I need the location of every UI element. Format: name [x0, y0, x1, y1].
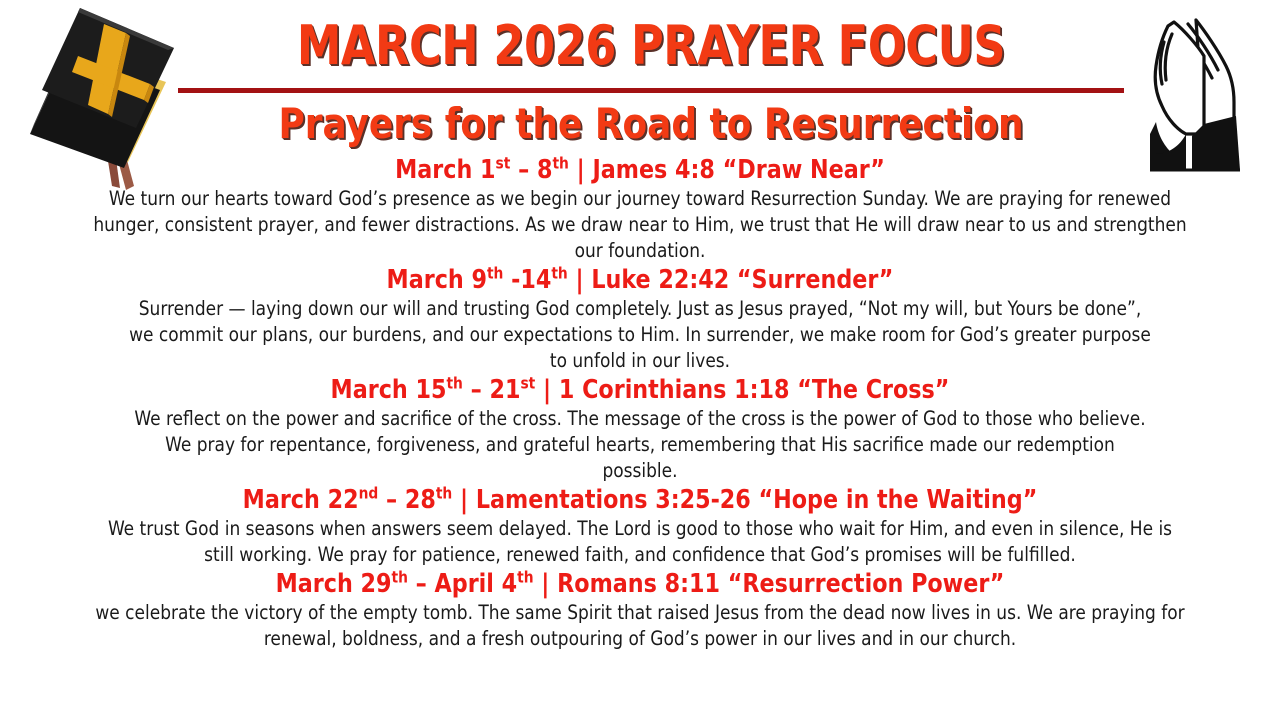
prayer-section: March 22nd – 28th | Lamentations 3:25-26…: [40, 484, 1240, 568]
heading-ordinal-1: th: [446, 374, 462, 393]
heading-ordinal-2: th: [551, 264, 567, 283]
heading-reference: | Luke 22:42 “Surrender”: [568, 265, 894, 295]
section-heading: March 15th – 21st | 1 Corinthians 1:18 “…: [58, 374, 1222, 406]
heading-reference: | Lamentations 3:25-26 “Hope in the Wait…: [452, 485, 1037, 515]
section-heading: March 22nd – 28th | Lamentations 3:25-26…: [58, 484, 1222, 516]
heading-date-mid: -14: [503, 265, 551, 295]
section-body: We reflect on the power and sacrifice of…: [58, 406, 1222, 484]
praying-hands-icon: [1126, 4, 1258, 176]
prayer-section: March 1st – 8th | James 4:8 “Draw Near” …: [40, 154, 1240, 264]
section-body: Surrender — laying down our will and tru…: [58, 296, 1222, 374]
prayer-section: March 9th -14th | Luke 22:42 “Surrender”…: [40, 264, 1240, 374]
heading-ordinal-1: st: [496, 154, 511, 173]
heading-date-prefix: March 9: [387, 265, 487, 295]
prayer-section: March 29th – April 4th | Romans 8:11 “Re…: [40, 568, 1240, 652]
heading-reference: | Romans 8:11 “Resurrection Power”: [534, 569, 1005, 599]
section-heading: March 1st – 8th | James 4:8 “Draw Near”: [58, 154, 1222, 186]
heading-date-prefix: March 22: [243, 485, 359, 515]
section-body: We trust God in seasons when answers see…: [58, 516, 1222, 568]
heading-date-mid: – 8: [510, 155, 552, 185]
heading-ordinal-2: th: [552, 154, 568, 173]
document-header: MARCH 2026 PRAYER FOCUS Prayers for the …: [0, 0, 1280, 152]
heading-ordinal-2: th: [436, 484, 452, 503]
heading-date-prefix: March 29: [276, 569, 392, 599]
section-heading: March 29th – April 4th | Romans 8:11 “Re…: [58, 568, 1222, 600]
heading-ordinal-2: st: [520, 374, 535, 393]
page-subtitle: Prayers for the Road to Resurrection: [202, 99, 1101, 149]
heading-ordinal-2: th: [517, 568, 533, 587]
heading-ordinal-1: th: [392, 568, 408, 587]
section-heading: March 9th -14th | Luke 22:42 “Surrender”: [58, 264, 1222, 296]
heading-date-prefix: March 15: [331, 375, 447, 405]
prayer-section: March 15th – 21st | 1 Corinthians 1:18 “…: [40, 374, 1240, 484]
heading-ordinal-1: nd: [359, 484, 379, 503]
section-body: We turn our hearts toward God’s presence…: [58, 186, 1222, 264]
section-body: we celebrate the victory of the empty to…: [58, 600, 1222, 652]
heading-date-mid: – 28: [378, 485, 436, 515]
title-block: MARCH 2026 PRAYER FOCUS Prayers for the …: [178, 0, 1124, 149]
prayer-sections: March 1st – 8th | James 4:8 “Draw Near” …: [0, 154, 1280, 652]
heading-reference: | James 4:8 “Draw Near”: [569, 155, 885, 185]
heading-date-prefix: March 1: [395, 155, 495, 185]
heading-date-mid: – April 4: [408, 569, 517, 599]
heading-ordinal-1: th: [487, 264, 503, 283]
heading-reference: | 1 Corinthians 1:18 “The Cross”: [535, 375, 949, 405]
page-title: MARCH 2026 PRAYER FOCUS: [216, 14, 1086, 78]
title-divider: [178, 88, 1124, 93]
heading-date-mid: – 21: [463, 375, 521, 405]
